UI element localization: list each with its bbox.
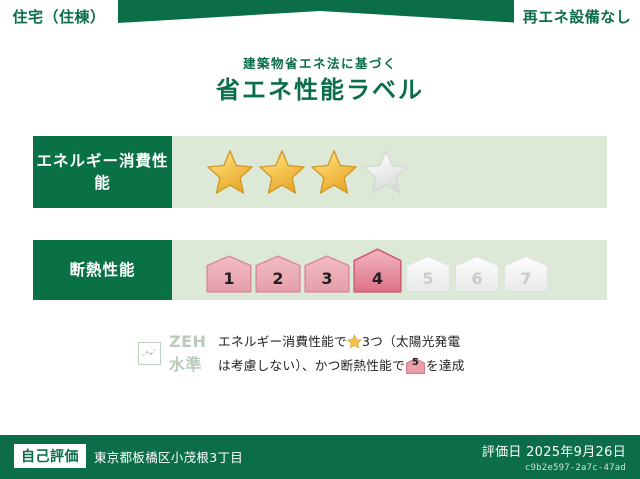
zeh-checkbox-icon [138, 342, 161, 365]
description-line2-b: を達成 [426, 358, 465, 373]
zeh-standard: ZEH水準 [33, 332, 218, 375]
insulation-badge-empty: 5 [405, 255, 451, 293]
insulation-performance-value: 1234567 [172, 240, 607, 300]
mini-insulation-badge: 5 [406, 358, 425, 374]
label-hash-id: c9b2e597-2a7c-47ad [482, 463, 626, 473]
renewable-energy-tag: 再エネ設備なし [514, 0, 640, 32]
insulation-badge-filled: 3 [304, 255, 350, 293]
self-evaluation-badge: 自己評価 [14, 444, 86, 468]
insulation-performance-label: 断熱性能 [33, 240, 172, 300]
title-main: 省エネ性能ラベル [0, 76, 640, 105]
energy-performance-row: エネルギー消費性能 [33, 136, 607, 208]
footer-left: 自己評価 東京都板橋区小茂根3丁目 [14, 444, 243, 468]
footer: 自己評価 東京都板橋区小茂根3丁目 評価日 2025年9月26日 c9b2e59… [0, 435, 640, 479]
star-filled-icon [258, 149, 306, 195]
star-empty-icon [362, 149, 410, 195]
title-block: 建築物省エネ法に基づく 省エネ性能ラベル [0, 56, 640, 105]
mini-star-icon [347, 333, 362, 348]
footer-right: 評価日 2025年9月26日 c9b2e597-2a7c-47ad [482, 441, 626, 473]
insulation-badge-filled: 2 [255, 255, 301, 293]
description-line2-a: は考慮しない）、かつ断熱性能で [218, 358, 405, 373]
evaluation-date: 評価日 2025年9月26日 [482, 441, 626, 460]
insulation-badge-filled: 1 [206, 255, 252, 293]
energy-performance-value [172, 136, 607, 208]
description-line1-a: エネルギー消費性能で [218, 334, 347, 349]
building-type-tag: 住宅（住棟） [0, 0, 118, 32]
zeh-label: ZEH水準 [169, 332, 218, 375]
title-subtitle: 建築物省エネ法に基づく [0, 56, 640, 71]
insulation-level-badges: 1234567 [206, 248, 549, 293]
insulation-performance-row: 断熱性能 1234567 [33, 240, 607, 300]
insulation-badge-achieved: 4 [353, 248, 402, 293]
achievement-description: エネルギー消費性能で3つ（太陽光発電 は考慮しない）、かつ断熱性能で5を達成 [218, 330, 607, 377]
zeh-description-block: ZEH水準 エネルギー消費性能で3つ（太陽光発電 は考慮しない）、かつ断熱性能で… [33, 330, 607, 377]
insulation-badge-empty: 7 [503, 255, 549, 293]
description-line1-b: 3つ（太陽光発電 [362, 334, 460, 349]
energy-performance-label: エネルギー消費性能 [33, 136, 172, 208]
address-text: 東京都板橋区小茂根3丁目 [94, 447, 243, 466]
energy-label-root: 住宅（住棟） 再エネ設備なし 建築物省エネ法に基づく 省エネ性能ラベル エネルギ… [0, 0, 640, 479]
star-filled-icon [310, 149, 358, 195]
star-rating [206, 149, 410, 195]
star-filled-icon [206, 149, 254, 195]
mini-badge-number: 5 [406, 358, 425, 374]
insulation-badge-empty: 6 [454, 255, 500, 293]
